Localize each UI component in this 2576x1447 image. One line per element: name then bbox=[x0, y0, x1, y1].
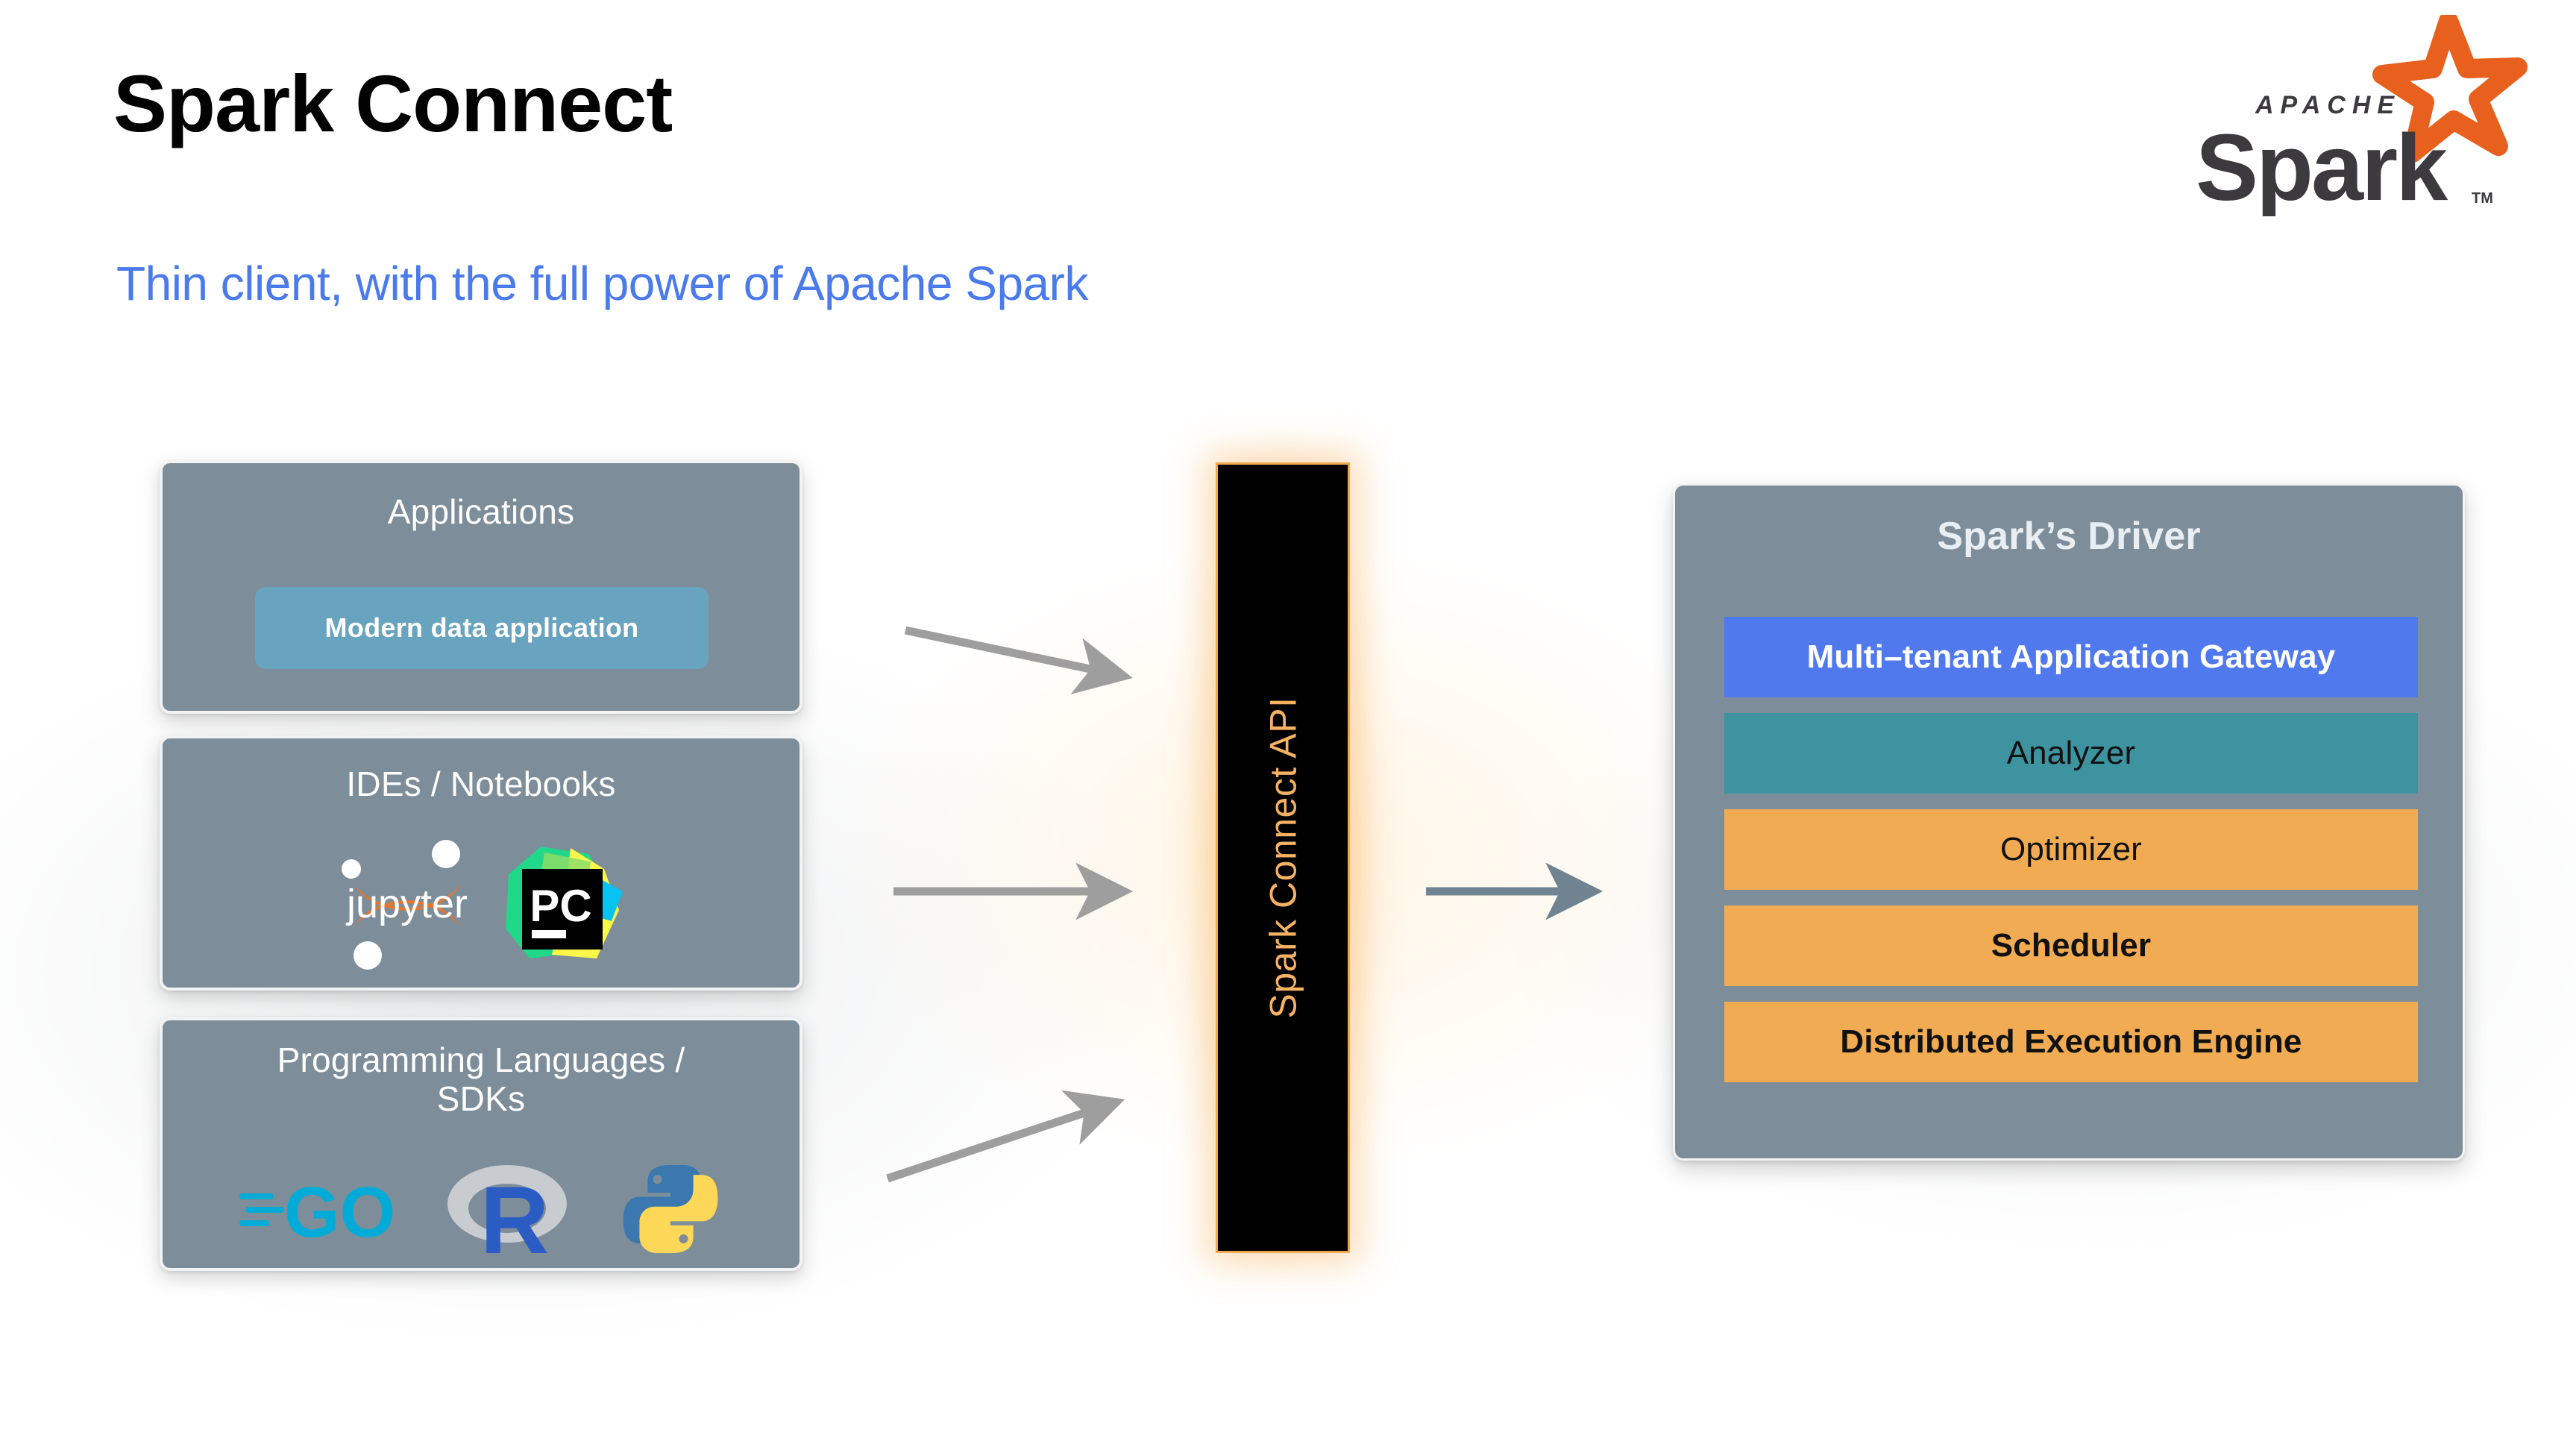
driver-row-list: Multi–tenant Application Gateway Analyze… bbox=[1724, 617, 2418, 1082]
go-speed-line-1 bbox=[239, 1193, 274, 1199]
pycharm-underscore bbox=[532, 930, 566, 938]
card-title-line-2: SDKs bbox=[163, 1080, 799, 1119]
spark-wordmark: Spark bbox=[2196, 115, 2448, 216]
pycharm-logo: PC bbox=[500, 839, 630, 970]
driver-row-label: Distributed Execution Engine bbox=[1840, 1023, 2302, 1061]
card-title-line-1: Programming Languages / bbox=[163, 1041, 799, 1080]
card-title-programming-languages-sdks: Programming Languages / SDKs bbox=[163, 1020, 799, 1118]
driver-row-label: Scheduler bbox=[1991, 927, 2152, 964]
arrow-applications-to-api bbox=[905, 630, 1119, 675]
jupyter-logo: jupyter bbox=[333, 833, 482, 975]
modern-data-application-box[interactable]: Modern data application bbox=[255, 587, 709, 669]
driver-row-distributed-execution-engine[interactable]: Distributed Execution Engine bbox=[1724, 1002, 2418, 1082]
api-bar-label: Spark Connect API bbox=[1261, 697, 1304, 1019]
jupyter-wordmark: jupyter bbox=[345, 882, 467, 926]
card-title-applications: Applications bbox=[163, 463, 799, 532]
go-logo: GO bbox=[239, 1168, 396, 1250]
api-bar-body[interactable]: Spark Connect API bbox=[1216, 462, 1350, 1253]
python-logo-svg bbox=[618, 1157, 723, 1261]
driver-row-analyzer[interactable]: Analyzer bbox=[1724, 713, 2418, 794]
driver-row-label: Analyzer bbox=[2007, 735, 2136, 772]
go-logo-svg: GO bbox=[239, 1168, 396, 1250]
spark-connect-api-bar[interactable]: Spark Connect API bbox=[1216, 462, 1350, 1253]
jupyter-logo-svg: jupyter bbox=[333, 833, 482, 975]
ide-logo-row: jupyter PC bbox=[163, 829, 799, 979]
client-card-applications[interactable]: Applications Modern data application bbox=[160, 460, 802, 714]
go-speed-line-3 bbox=[239, 1220, 269, 1226]
driver-row-label: Multi–tenant Application Gateway bbox=[1807, 638, 2336, 676]
go-speed-line-2 bbox=[245, 1207, 284, 1213]
r-logo-svg: R bbox=[444, 1159, 571, 1260]
driver-row-optimizer[interactable]: Optimizer bbox=[1724, 809, 2418, 890]
jupyter-dot-left bbox=[342, 859, 361, 879]
r-logo: R bbox=[444, 1159, 571, 1260]
driver-row-label: Optimizer bbox=[2000, 831, 2142, 868]
pycharm-wordmark: PC bbox=[530, 881, 591, 931]
client-card-programming-languages-sdks[interactable]: Programming Languages / SDKs GO R bbox=[160, 1017, 802, 1271]
driver-panel-title: Spark’s Driver bbox=[1675, 486, 2463, 559]
page-subtitle: Thin client, with the full power of Apac… bbox=[116, 257, 1088, 310]
arrow-sdks-to-api bbox=[888, 1104, 1111, 1178]
jupyter-dot-bottom-left bbox=[354, 941, 382, 970]
driver-row-scheduler[interactable]: Scheduler bbox=[1724, 905, 2418, 986]
page-title: Spark Connect bbox=[113, 61, 672, 145]
apache-spark-logo: APACHE Spark TM bbox=[2158, 15, 2531, 216]
apache-spark-logo-svg: APACHE Spark TM bbox=[2158, 15, 2531, 216]
spark-driver-panel[interactable]: Spark’s Driver Multi–tenant Application … bbox=[1673, 483, 2465, 1161]
jupyter-dot-top-right bbox=[432, 840, 460, 868]
driver-row-multi-tenant-application-gateway[interactable]: Multi–tenant Application Gateway bbox=[1724, 617, 2418, 697]
sdk-logo-row: GO R bbox=[163, 1153, 799, 1265]
pycharm-logo-svg: PC bbox=[500, 839, 630, 970]
card-title-ides-notebooks: IDEs / Notebooks bbox=[163, 738, 799, 804]
go-wordmark: GO bbox=[284, 1173, 395, 1250]
client-card-ides-notebooks[interactable]: IDEs / Notebooks jupyter PC bbox=[160, 735, 802, 991]
python-logo bbox=[618, 1157, 723, 1261]
trademark-symbol: TM bbox=[2472, 190, 2493, 207]
r-wordmark: R bbox=[480, 1167, 549, 1260]
